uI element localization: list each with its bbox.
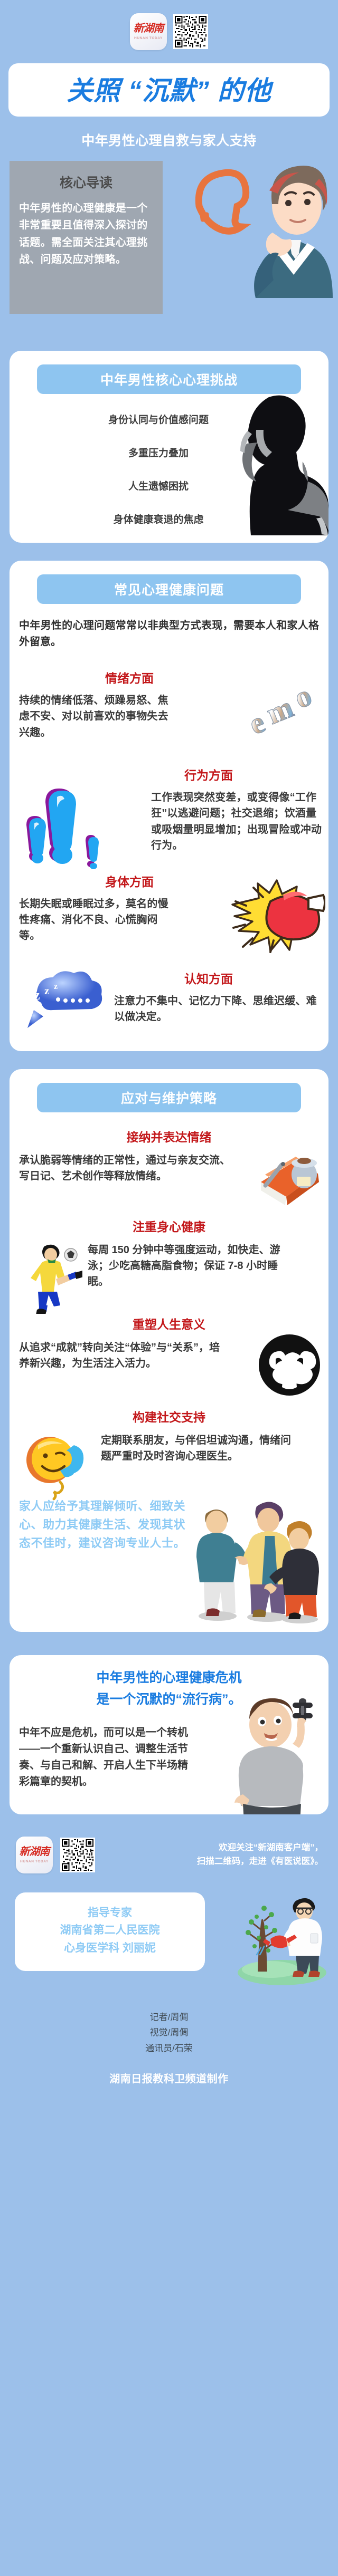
symptom-body: 注意力不集中、记忆力下降、思维迟缓、难以做决定。	[114, 993, 317, 1025]
svg-text:z: z	[34, 987, 40, 1003]
challenge-list: 身份认同与价值感问题 多重压力叠加 人生遗憾困扰 身体健康衰退的焦虑	[19, 412, 319, 526]
page-title: 关照 “沉默” 的他	[14, 77, 324, 105]
notebook-pen-icon	[253, 1151, 322, 1209]
svg-text:z: z	[54, 982, 58, 991]
strategy-body: 每周 150 分钟中等强度运动，如快走、游泳；少吃高糖高脂食物；保证 7-8 小…	[88, 1242, 294, 1290]
hunan-today-logo-footer: 新湖南 HUNAN TODAY	[16, 1837, 53, 1873]
credits-block: 记者/周倜 视觉/周倜 通讯员/石荣	[0, 2003, 338, 2056]
list-item: 人生遗憾困扰	[19, 478, 319, 493]
promo-line-2: 扫描二维码，走进《有医说医》。	[197, 1855, 323, 1869]
soccer-player-icon	[24, 1240, 82, 1314]
doctor-watering-tree-illustration	[233, 1888, 328, 1988]
producer-line: 湖南日报教科卫频道制作	[0, 2056, 338, 2107]
strategy-life-meaning: 重塑人生意义 从追求“成就”转向关注“体验”与“关系”，培养新兴趣，为生活注入活…	[19, 1314, 319, 1383]
lead-box: 核心导读 中年男性的心理健康是一个非常重要且值得深入探讨的话题。需全面关注其心理…	[10, 161, 163, 314]
hunan-today-logo: 新湖南 HUNAN TODAY	[130, 13, 167, 50]
expert-label: 指导专家	[20, 1904, 200, 1922]
sleep-cloud-icon: z z z	[19, 970, 104, 1039]
expert-card: 指导专家 湖南省第二人民医院 心身医学科 刘丽妮	[15, 1892, 205, 1971]
expert-section: 指导专家 湖南省第二人民医院 心身医学科 刘丽妮	[0, 1892, 338, 2003]
crisis-headline-line1: 中年男性的心理健康危机	[19, 1666, 319, 1687]
symptom-body: 持续的情绪低落、烦躁易怒、焦虑不安、对以前喜欢的事物失去兴趣。	[19, 693, 177, 741]
brand-strip: 新湖南 HUNAN TODAY	[0, 0, 338, 63]
strategy-physical-health: 注重身心健康 每周 150 分钟中等强度运动，如快走、游泳；少吃高糖高脂食物；保…	[19, 1217, 319, 1290]
section-pill-challenges: 中年男性核心心理挑战	[37, 364, 301, 394]
headline-card: 关照 “沉默” 的他	[8, 63, 330, 117]
strategies-card: 应对与维护策略 接纳并表达情绪 承认脆弱等情绪的正常性，通过与亲友交流、写日记、…	[10, 1069, 328, 1632]
symptom-behavioral: 行为方面 工作表现突然变差，或变得像“工作狂”以逃避问题；社交退缩；饮酒量或吸烟…	[19, 765, 319, 854]
svg-text:m: m	[261, 689, 298, 730]
symptom-emotional: 情绪方面 持续的情绪低落、烦躁易怒、焦虑不安、对以前喜欢的事物失去兴趣。 emo	[19, 668, 319, 747]
section-pill-problems: 常见心理健康问题	[37, 574, 301, 604]
strategy-express-emotion: 接纳并表达情绪 承认脆弱等情绪的正常性，通过与亲友交流、写日记、艺术创作等释放情…	[19, 1127, 319, 1196]
family-advice: 家人应给予其理解倾听、细致关心、助力其健康生活、发现其状态不佳时，建议咨询专业人…	[19, 1497, 319, 1618]
svg-text:z: z	[44, 984, 49, 997]
symptom-cognitive: 认知方面 注意力不集中、记忆力下降、思维迟缓、难以做决定。 z z z	[19, 969, 319, 1037]
credit-reporter: 记者/周倜	[0, 2010, 338, 2025]
strategy-title: 注重身心健康	[19, 1217, 319, 1235]
lead-section: 核心导读 中年男性的心理健康是一个非常重要且值得深入探讨的话题。需全面关注其心理…	[0, 161, 338, 335]
logo-english-text: HUNAN TODAY	[134, 36, 163, 40]
family-support-illustration	[188, 1492, 325, 1623]
dumbbell-man-illustration	[220, 1694, 328, 1814]
crisis-body: 中年不应是危机，而可以是一个转机——一个重新认识自己、调整生活节奏、与自己和解、…	[19, 1725, 193, 1790]
promo-line-1: 欢迎关注“新湖南客户端”，	[197, 1841, 323, 1855]
strategy-title: 接纳并表达情绪	[19, 1127, 319, 1145]
section-pill-strategies: 应对与维护策略	[37, 1083, 301, 1112]
promo-row: 新湖南 HUNAN TODAY	[0, 1814, 338, 1879]
logo-english-text: HUNAN TODAY	[20, 1860, 49, 1863]
thinking-man-illustration	[176, 140, 335, 314]
exclamation-marks-icon	[24, 778, 125, 873]
problems-intro: 中年男性的心理问题常常以非典型方式表现，需要本人和家人格外留意。	[19, 618, 319, 650]
core-challenges-card: 中年男性核心心理挑战 身份认同与价值感问题 多重压力叠加 人生遗憾困扰 身体健康…	[10, 351, 328, 543]
strategy-body: 从追求“成就”转向关注“体验”与“关系”，培养新兴趣，为生活注入活力。	[19, 1340, 220, 1372]
symptom-body: 工作表现突然变差，或变得像“工作狂”以逃避问题；社交退缩；饮酒量或吸烟量明显增加…	[151, 790, 325, 854]
expert-person: 心身医学科 刘丽妮	[20, 1939, 200, 1957]
family-advice-text: 家人应给予其理解倾听、细致关心、助力其健康生活、发现其状态不佳时，建议咨询专业人…	[19, 1497, 188, 1553]
strategy-body: 承认脆弱等情绪的正常性，通过与亲友交流、写日记、艺术创作等释放情绪。	[19, 1152, 236, 1185]
qr-code-icon-footer[interactable]	[60, 1838, 95, 1872]
qr-code-icon[interactable]	[173, 14, 208, 49]
promo-text: 欢迎关注“新湖南客户端”， 扫描二维码，走进《有医说医》。	[197, 1841, 323, 1868]
credit-visual: 视觉/周倜	[0, 2025, 338, 2041]
crisis-card: 中年男性的心理健康危机 是一个沉默的“流行病”。 中年不应是危机，而可以是一个转…	[10, 1655, 328, 1814]
symptom-physical: 身体方面 长期失眠或睡眠过多，莫名的慢性疼痛、消化不良、心慌胸闷等。	[19, 872, 319, 951]
strategy-body: 定期联系朋友，与伴侣坦诚沟通，情绪问题严重时及时咨询心理医生。	[101, 1433, 291, 1465]
logo-chinese-text: 新湖南	[134, 23, 164, 34]
common-problems-card: 常见心理健康问题 中年男性的心理问题常常以非典型方式表现，需要本人和家人格外留意…	[10, 561, 328, 1051]
logo-chinese-text: 新湖南	[20, 1847, 50, 1857]
strategy-title: 构建社交支持	[19, 1407, 319, 1425]
smiley-phone-icon	[23, 1433, 97, 1501]
emo-chrome-text-icon: emo	[245, 680, 324, 743]
list-item: 身份认同与价值感问题	[19, 412, 319, 426]
lead-text: 中年男性的心理健康是一个非常重要且值得深入探讨的话题。需全面关注其心理挑战、问题…	[19, 200, 153, 268]
expert-hospital: 湖南省第二人民医院	[20, 1921, 200, 1939]
boxing-glove-icon	[220, 877, 325, 962]
strategy-social-support: 构建社交支持 定期联系朋友，与伴侣坦诚沟通，情绪问题严重时及时咨询心理医生。	[19, 1407, 319, 1476]
symptom-body: 长期失眠或睡眠过多，莫名的慢性疼痛、消化不良、心慌胸闷等。	[19, 896, 177, 944]
strategy-title: 重塑人生意义	[19, 1314, 319, 1332]
list-item: 身体健康衰退的焦虑	[19, 512, 319, 526]
lead-title: 核心导读	[19, 172, 153, 191]
credit-correspondent: 通讯员/石荣	[0, 2041, 338, 2056]
strong-arms-icon	[258, 1333, 321, 1397]
list-item: 多重压力叠加	[19, 445, 319, 459]
